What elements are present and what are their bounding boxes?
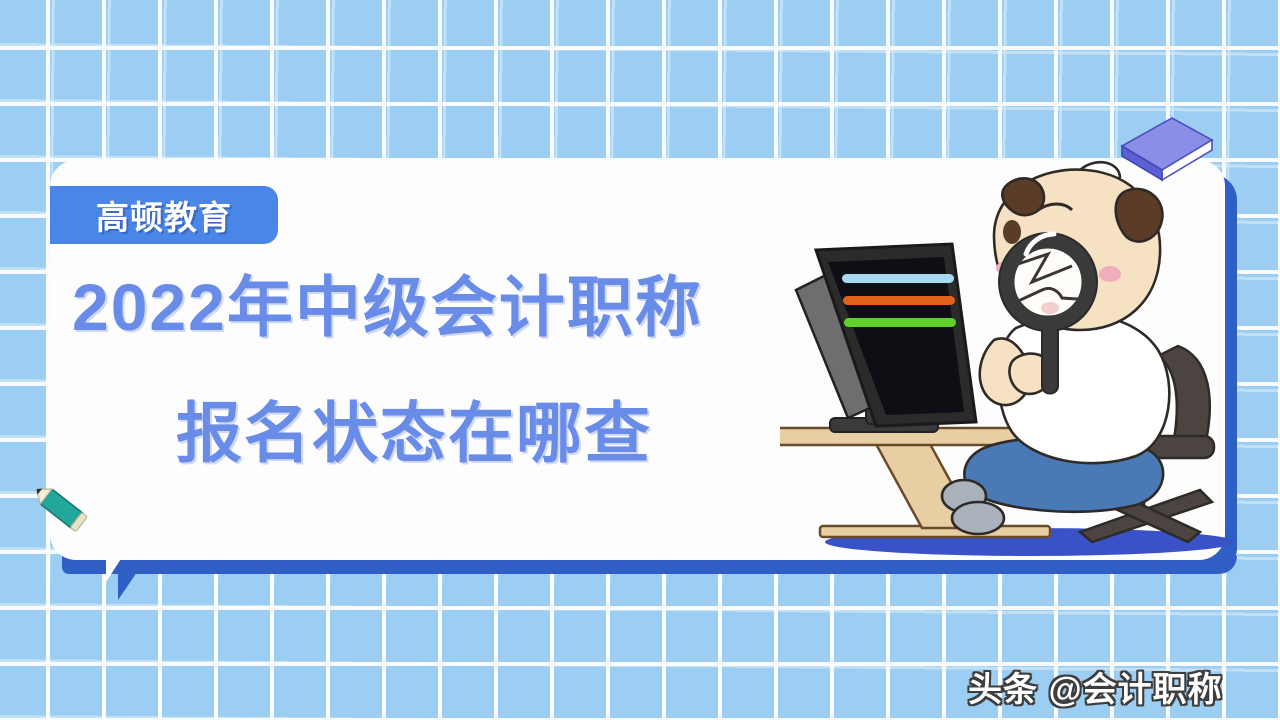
pencil-icon	[28, 478, 92, 538]
headline-line-1: 2022年中级会计职称	[72, 268, 872, 346]
bear-ear-right	[1116, 189, 1163, 242]
watermark: 头条 @会计职称	[968, 662, 1223, 711]
speech-bubble-tail-highlight	[106, 548, 128, 582]
computer-monitor	[796, 244, 976, 432]
brand-badge-label: 高顿教育	[96, 191, 232, 239]
screen-bar-blue	[842, 274, 954, 283]
headline-line-2: 报名状态在哪查	[72, 394, 872, 472]
bear-shoe-front	[952, 502, 1004, 534]
bear-cheek-spot	[1003, 220, 1021, 244]
illustration-bear-at-computer	[780, 150, 1240, 570]
screen-bar-orange	[843, 296, 955, 305]
brand-badge: 高顿教育	[50, 186, 278, 244]
bear-blush-right	[1099, 266, 1121, 282]
poster-canvas: 高顿教育 2022年中级会计职称 报名状态在哪查	[0, 0, 1280, 720]
headline: 2022年中级会计职称 报名状态在哪查	[72, 268, 872, 472]
screen-bar-green	[844, 318, 956, 327]
